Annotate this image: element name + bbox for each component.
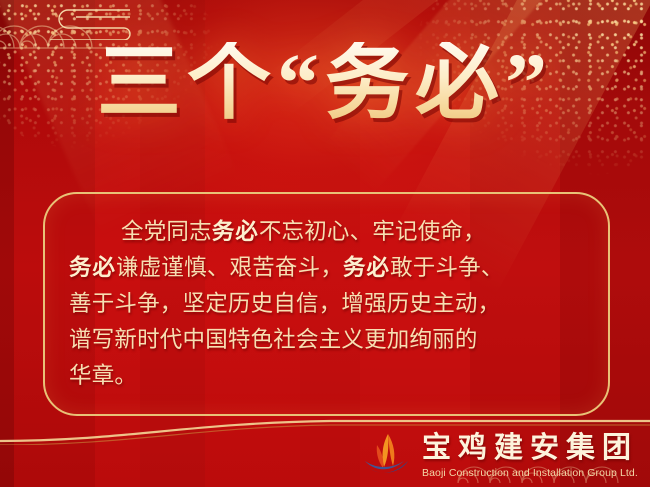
- poster-canvas: 三个“务必” 全党同志务必不忘初心、牢记使命，务必谦虚谨慎、艰苦奋斗，务必敢于斗…: [0, 0, 650, 487]
- ribbon-motif-icon: [46, 6, 132, 40]
- page-title: 三个“务必”: [0, 42, 650, 126]
- content-line: 善于斗争，坚定历史自信，增强历史主动，: [69, 286, 584, 322]
- body-text: 谱写新时代中国特色社会主义更加绚丽的: [69, 327, 478, 352]
- body-text: 不忘初心、牢记使命，: [259, 219, 486, 244]
- sail-boat-logo-icon: [358, 431, 414, 481]
- body-text: 全党同志: [121, 219, 212, 244]
- body-text: 华章。: [69, 363, 137, 388]
- company-logo: 宝鸡建安集团 Baoji Construction and Installati…: [358, 431, 638, 481]
- content-line: 务必谦虚谨慎、艰苦奋斗，务必敢于斗争、: [69, 250, 584, 286]
- company-name-cn: 宝鸡建安集团: [422, 434, 638, 463]
- body-text: 谦虚谨慎、艰苦奋斗，: [116, 255, 343, 280]
- body-text: 敢于斗争、: [390, 255, 504, 280]
- company-name-en: Baoji Construction and Installation Grou…: [422, 468, 638, 479]
- content-card-text: 全党同志务必不忘初心、牢记使命，务必谦虚谨慎、艰苦奋斗，务必敢于斗争、善于斗争，…: [43, 200, 610, 394]
- body-text: 善于斗争，坚定历史自信，增强历史主动，: [69, 291, 500, 316]
- content-line: 华章。: [69, 358, 584, 394]
- emphasis-text: 务必: [343, 255, 390, 280]
- emphasis-text: 务必: [69, 255, 116, 280]
- emphasis-text: 务必: [212, 219, 259, 244]
- content-line: 全党同志务必不忘初心、牢记使命，: [69, 214, 584, 250]
- content-line: 谱写新时代中国特色社会主义更加绚丽的: [69, 322, 584, 358]
- logo-text-block: 宝鸡建安集团 Baoji Construction and Installati…: [422, 434, 638, 479]
